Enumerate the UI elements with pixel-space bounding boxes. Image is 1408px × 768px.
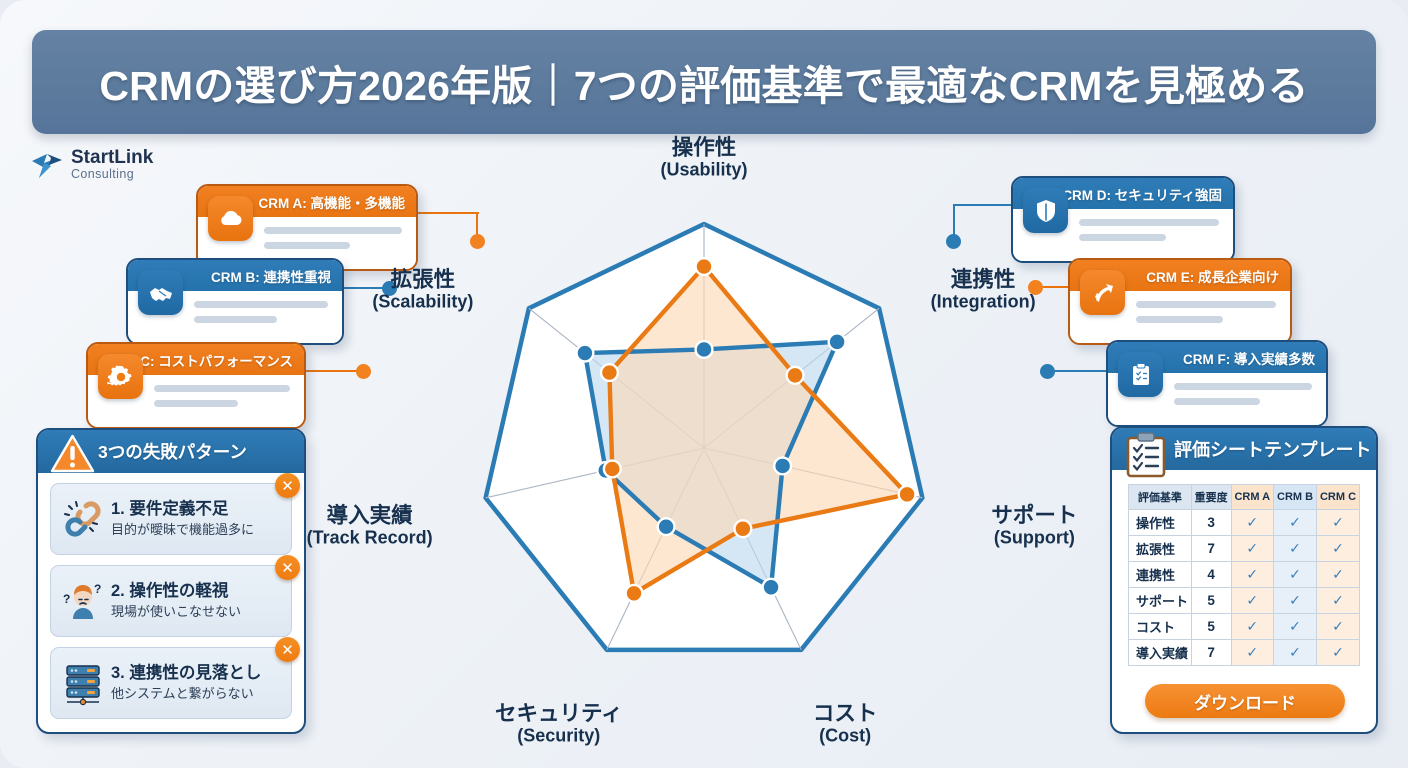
radar-point-series-orange-4 [626,585,643,602]
card-crm-f[interactable]: CRM F: 導入実績多数 [1106,340,1328,427]
card-crm-d-label: CRM D: セキュリティ強固 [1062,184,1222,204]
table-header-row: 評価基準 重要度 CRM A CRM B CRM C [1129,485,1360,510]
table-row: 導入実績7✓✓✓ [1129,640,1360,666]
brand-logo: StartLink Consulting [30,148,153,183]
broken-chain-icon [59,495,107,543]
failure-item-1-sub: 目的が曖昧で機能過多に [111,522,254,539]
cell-crm-c: ✓ [1317,614,1360,640]
svg-text:?: ? [94,582,101,596]
radar-axis-label-5: 導入実績(Track Record) [307,503,433,548]
radar-point-series-blue-4 [658,518,675,535]
cell-crm-a: ✓ [1231,562,1274,588]
card-crm-a-label: CRM A: 高機能・多機能 [259,192,406,212]
radar-axis-label-en-6: (Scalability) [372,292,473,313]
failure-item-2-title: 2. 操作性の軽視 [111,581,241,602]
close-icon[interactable]: ✕ [275,555,300,580]
confused-user-icon: ? ? [59,577,107,625]
cell-crm-c: ✓ [1317,588,1360,614]
radar-axis-label-6: 拡張性(Scalability) [372,268,473,313]
cell-weight: 3 [1191,510,1231,536]
cell-crm-a: ✓ [1231,614,1274,640]
card-crm-f-body [1108,373,1326,425]
radar-point-series-blue-6 [577,345,594,362]
sheet-title: 評価シートテンプレート [1174,436,1371,462]
radar-axis-label-jp-3: コスト [813,701,878,725]
close-icon[interactable]: ✕ [275,473,300,498]
radar-axis-label-jp-1: 連携性 [931,268,1036,292]
cell-weight: 4 [1191,562,1231,588]
cell-criterion: 操作性 [1129,510,1192,536]
table-row: 操作性3✓✓✓ [1129,510,1360,536]
radar-axis-label-en-3: (Cost) [813,726,878,747]
radar-axis-label-en-0: (Usability) [660,160,747,181]
radar-axis-label-en-4: (Security) [495,726,623,747]
card-crm-b-body [128,291,342,343]
clipboard-checklist-icon [1124,431,1168,479]
card-crm-b[interactable]: CRM B: 連携性重視 [126,258,344,345]
cell-weight: 7 [1191,536,1231,562]
card-crm-d-body [1013,209,1233,261]
radar-point-series-orange-0 [696,258,713,275]
card-crm-e-body [1070,291,1290,343]
connector-dot-crm-c [356,364,371,379]
page-title-bar: CRMの選び方2026年版｜7つの評価基準で最適なCRMを見極める [32,30,1376,134]
radar-axis-label-jp-4: セキュリティ [495,701,623,725]
cell-criterion: 連携性 [1129,562,1192,588]
cell-criterion: 拡張性 [1129,536,1192,562]
svg-text:?: ? [63,592,70,606]
cell-weight: 7 [1191,640,1231,666]
radar-axis-label-jp-2: サポート [991,503,1077,527]
radar-axis-label-jp-0: 操作性 [660,136,747,160]
radar-point-series-blue-0 [696,341,713,358]
failure-panel-title: 3つの失敗パターン [98,439,247,464]
evaluation-sheet-panel: 評価シートテンプレート 評価基準 重要度 CRM A CRM B CRM C 操… [1110,426,1378,734]
download-button[interactable]: ダウンロード [1145,684,1345,718]
cell-weight: 5 [1191,614,1231,640]
cell-crm-a: ✓ [1231,510,1274,536]
radar-point-series-orange-3 [734,520,751,537]
radar-axis-label-jp-6: 拡張性 [372,268,473,292]
radar-axis-label-4: セキュリティ(Security) [495,701,623,746]
card-crm-c[interactable]: CRM C: コストパフォーマンス [86,342,306,429]
radar-point-series-orange-6 [601,364,618,381]
radar-point-series-blue-1 [829,333,846,350]
radar-chart: 操作性(Usability)連携性(Integration)サポート(Suppo… [448,158,960,743]
card-crm-b-label: CRM B: 連携性重視 [211,266,331,286]
card-crm-c-placeholder [154,385,290,415]
radar-axis-label-0: 操作性(Usability) [660,136,747,181]
card-crm-b-placeholder [194,301,328,331]
cell-crm-c: ✓ [1317,510,1360,536]
failure-patterns-panel: 3つの失敗パターン 1. 要件定義不足 目的が曖昧で機能過多に ✕ [36,428,306,734]
shield-icon [1023,188,1068,233]
card-crm-d-placeholder [1079,219,1219,249]
card-crm-c-body [88,375,304,427]
logo-name: StartLink [71,148,153,167]
radar-point-series-orange-5 [604,461,621,478]
cell-crm-b: ✓ [1274,588,1317,614]
card-crm-f-label: CRM F: 導入実績多数 [1183,348,1315,368]
cell-criterion: コスト [1129,614,1192,640]
radar-axis-label-en-5: (Track Record) [307,528,433,549]
handshake-icon [138,270,183,315]
failure-item-3-title: 3. 連携性の見落とし [111,663,261,684]
cell-crm-c: ✓ [1317,536,1360,562]
cell-criterion: 導入実績 [1129,640,1192,666]
radar-point-series-orange-2 [899,486,916,503]
evaluation-table: 評価基準 重要度 CRM A CRM B CRM C 操作性3✓✓✓拡張性7✓✓… [1128,484,1360,666]
radar-point-series-orange-1 [787,367,804,384]
table-row: 拡張性7✓✓✓ [1129,536,1360,562]
cell-crm-a: ✓ [1231,588,1274,614]
col-weight: 重要度 [1191,485,1231,510]
card-crm-e[interactable]: CRM E: 成長企業向け [1068,258,1292,345]
cell-crm-a: ✓ [1231,536,1274,562]
card-crm-d[interactable]: CRM D: セキュリティ強固 [1011,176,1235,263]
cell-crm-b: ✓ [1274,536,1317,562]
growth-arrow-icon [1080,270,1125,315]
table-row: コスト5✓✓✓ [1129,614,1360,640]
col-criterion: 評価基準 [1129,485,1192,510]
cell-crm-b: ✓ [1274,510,1317,536]
cell-crm-b: ✓ [1274,614,1317,640]
cell-crm-b: ✓ [1274,640,1317,666]
failure-item-2-sub: 現場が使いこなせない [111,604,241,621]
server-stack-icon [59,659,107,707]
card-crm-f-placeholder [1174,383,1312,413]
card-crm-e-label: CRM E: 成長企業向け [1146,266,1279,286]
failure-item-1-title: 1. 要件定義不足 [111,499,254,520]
infographic-page: CRMの選び方2026年版｜7つの評価基準で最適なCRMを見極める StartL… [0,0,1408,768]
radar-axis-label-jp-5: 導入実績 [307,503,433,527]
cell-crm-a: ✓ [1231,640,1274,666]
radar-axis-label-3: コスト(Cost) [813,701,878,746]
col-crm-c: CRM C [1317,485,1360,510]
cell-crm-c: ✓ [1317,640,1360,666]
cloud-upload-icon [208,196,253,241]
radar-axis-label-en-2: (Support) [991,528,1077,549]
failure-item-3-sub: 他システムと繋がらない [111,686,261,703]
failure-item-2[interactable]: ? ? 2. 操作性の軽視 現場が使いこなせない ✕ [50,565,292,637]
cell-weight: 5 [1191,588,1231,614]
radar-point-series-blue-3 [763,579,780,596]
cell-criterion: サポート [1129,588,1192,614]
radar-axis-label-en-1: (Integration) [931,292,1036,313]
cell-crm-c: ✓ [1317,562,1360,588]
startlink-logo-icon [30,149,64,183]
connector-dot-crm-f [1040,364,1055,379]
radar-axis-label-2: サポート(Support) [991,503,1077,548]
failure-item-3[interactable]: 3. 連携性の見落とし 他システムと繋がらない ✕ [50,647,292,719]
radar-chart-svg [448,158,960,738]
warning-triangle-icon [50,434,95,474]
cell-crm-b: ✓ [1274,562,1317,588]
card-crm-e-placeholder [1136,301,1276,331]
col-crm-a: CRM A [1231,485,1274,510]
page-title: CRMの選び方2026年版｜7つの評価基準で最適なCRMを見極める [99,52,1308,112]
radar-point-series-blue-2 [774,458,791,475]
col-crm-b: CRM B [1274,485,1317,510]
gear-icon [98,354,143,399]
logo-sub: Consulting [71,167,153,183]
card-crm-a-placeholder [264,227,402,257]
table-row: サポート5✓✓✓ [1129,588,1360,614]
radar-axis-label-1: 連携性(Integration) [931,268,1036,313]
table-row: 連携性4✓✓✓ [1129,562,1360,588]
clipboard-check-icon [1118,352,1163,397]
close-icon[interactable]: ✕ [275,637,300,662]
failure-item-1[interactable]: 1. 要件定義不足 目的が曖昧で機能過多に ✕ [50,483,292,555]
